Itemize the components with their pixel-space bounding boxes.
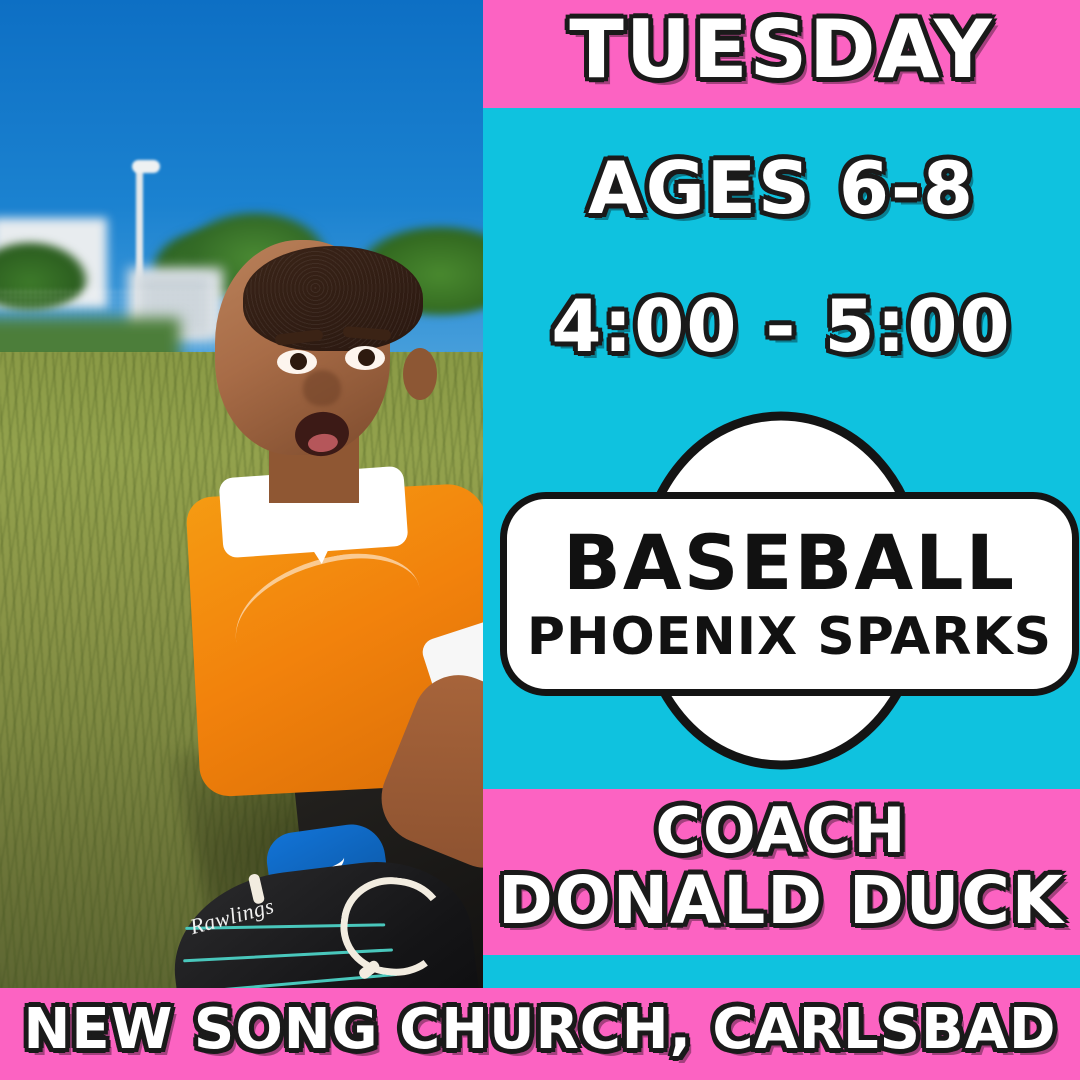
boy-eye xyxy=(277,350,317,374)
lower-cyan-band xyxy=(483,955,1080,988)
boy-tongue xyxy=(307,432,339,453)
boy-pupil xyxy=(290,353,307,370)
time-heading: 4:00 - 5:00 xyxy=(483,290,1080,362)
boy-hair-texture xyxy=(245,248,421,348)
boy-eye xyxy=(345,346,385,370)
light-pole-head xyxy=(132,160,160,173)
boy-head xyxy=(215,240,390,455)
coach-name: DONALD DUCK xyxy=(483,868,1080,934)
badge-sport-label: BASEBALL xyxy=(563,525,1016,601)
flyer-poster: Rawlings THE GOLD GLOVE CO.™ BLLLS TUESD… xyxy=(0,0,1080,1080)
coach-label: COACH xyxy=(483,800,1080,862)
venue-text: NEW SONG CHURCH, CARLSBAD xyxy=(0,1002,1080,1058)
day-heading: TUESDAY xyxy=(483,10,1080,90)
glove-brand-logo: Rawlings xyxy=(187,884,314,958)
boy-pupil xyxy=(358,349,375,366)
boy-figure: Rawlings THE GOLD GLOVE CO.™ BLLLS xyxy=(185,228,483,988)
badge-team-label: PHOENIX SPARKS xyxy=(527,611,1052,663)
boy-with-baseball-glove-photo: Rawlings THE GOLD GLOVE CO.™ BLLLS xyxy=(0,0,483,988)
ages-heading: AGES 6-8 xyxy=(483,152,1080,224)
badge-label-box: BASEBALL PHOENIX SPARKS xyxy=(500,492,1079,696)
boy-ear xyxy=(403,348,437,400)
boy-nose xyxy=(303,370,341,406)
baseball-badge: BASEBALL PHOENIX SPARKS xyxy=(483,400,1080,780)
glove-web-lacing xyxy=(335,871,452,981)
